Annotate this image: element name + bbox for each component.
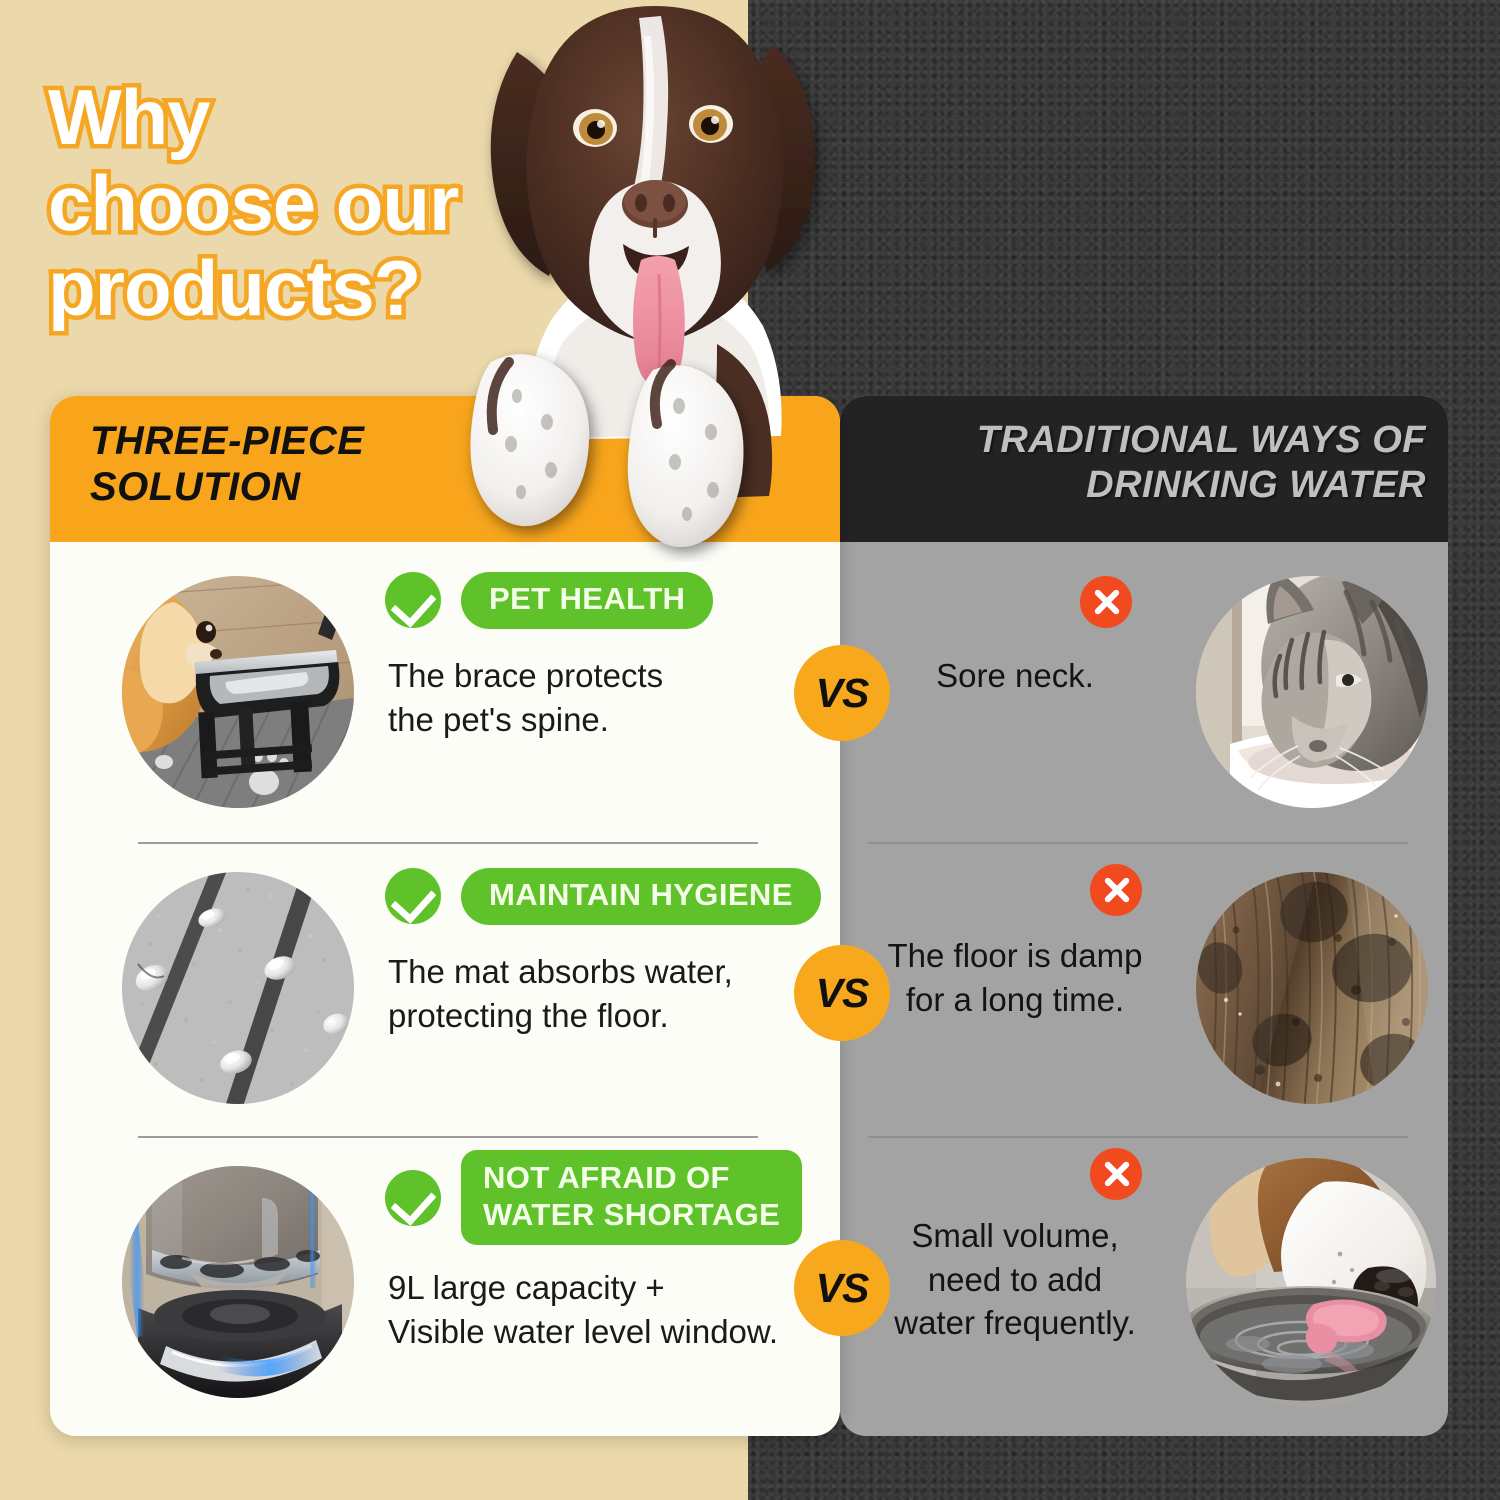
feature-row-maintain-hygiene: MAINTAIN HYGIENE The mat absorbs water,p…: [50, 842, 840, 1140]
vs-badge-1: VS: [794, 645, 890, 741]
check-circle-icon: [385, 868, 441, 924]
left-panel-header-text: THREE-PIECE SOLUTION: [90, 418, 364, 511]
page-title: Why choose our products?: [48, 78, 518, 335]
right-header-line-1: TRADITIONAL WAYS OF: [977, 418, 1426, 463]
check-circle-icon: [385, 572, 441, 628]
absorbent-mat-water-droplets-photo: [122, 872, 354, 1104]
right-panel-header-text: TRADITIONAL WAYS OF DRINKING WATER: [977, 418, 1426, 508]
three-piece-solution-panel: THREE-PIECE SOLUTION: [50, 396, 840, 1436]
pet-health-badge-group: PET HEALTH: [385, 572, 713, 629]
cat-drinking-floor-bowl-photo: [1196, 576, 1428, 808]
x-circle-icon: [1090, 1148, 1142, 1200]
water-shortage-description: 9L large capacity +Visible water level w…: [388, 1266, 838, 1353]
maintain-hygiene-description: The mat absorbs water,protecting the flo…: [388, 950, 818, 1037]
water-shortage-badge: NOT AFRAID OF WATER SHORTAGE: [461, 1150, 802, 1245]
right-panel-header: TRADITIONAL WAYS OF DRINKING WATER: [840, 396, 1448, 542]
vs-badge-3: VS: [794, 1240, 890, 1336]
damp-wood-floor-photo: [1196, 872, 1428, 1104]
water-shortage-badge-group: NOT AFRAID OF WATER SHORTAGE: [385, 1150, 802, 1245]
x-circle-icon: [1090, 864, 1142, 916]
left-header-line-1: THREE-PIECE: [90, 418, 364, 464]
water-shortage-badge-line-1: NOT AFRAID OF: [483, 1160, 730, 1195]
page-title-line-3: products?: [48, 249, 518, 329]
drawback-row-damp-floor: The floor is dampfor a long time.: [840, 842, 1448, 1140]
maintain-hygiene-badge-group: MAINTAIN HYGIENE: [385, 868, 821, 925]
traditional-ways-panel: TRADITIONAL WAYS OF DRINKING WATER Sore …: [840, 396, 1448, 1436]
feature-row-water-shortage: NOT AFRAID OF WATER SHORTAGE 9L large ca…: [50, 1136, 840, 1434]
check-circle-icon: [385, 1170, 441, 1226]
damp-floor-description: The floor is dampfor a long time.: [860, 934, 1170, 1021]
vs-badge-2: VS: [794, 945, 890, 1041]
right-header-line-2: DRINKING WATER: [977, 463, 1426, 508]
water-shortage-badge-line-2: WATER SHORTAGE: [483, 1197, 780, 1232]
pet-health-description: The brace protectsthe pet's spine.: [388, 654, 818, 741]
pomeranian-drinking-elevated-bowl-photo: [122, 576, 354, 808]
drawback-row-small-volume: Small volume,need to addwater frequently…: [840, 1136, 1448, 1434]
sore-neck-description: Sore neck.: [860, 654, 1170, 698]
pet-health-badge: PET HEALTH: [461, 572, 713, 629]
water-dispenser-tank-photo: [122, 1166, 354, 1398]
x-circle-icon: [1080, 576, 1132, 628]
feature-row-pet-health: PET HEALTH The brace protectsthe pet's s…: [50, 546, 840, 844]
maintain-hygiene-badge: MAINTAIN HYGIENE: [461, 868, 821, 925]
left-header-line-2: SOLUTION: [90, 464, 364, 510]
left-panel-header: THREE-PIECE SOLUTION: [50, 396, 840, 542]
small-volume-description: Small volume,need to addwater frequently…: [850, 1214, 1180, 1345]
drawback-row-sore-neck: Sore neck.: [840, 546, 1448, 844]
page-title-line-1: Why: [48, 78, 518, 158]
dog-lapping-small-bowl-photo: [1186, 1158, 1436, 1408]
page-title-line-2: choose our: [48, 164, 518, 244]
